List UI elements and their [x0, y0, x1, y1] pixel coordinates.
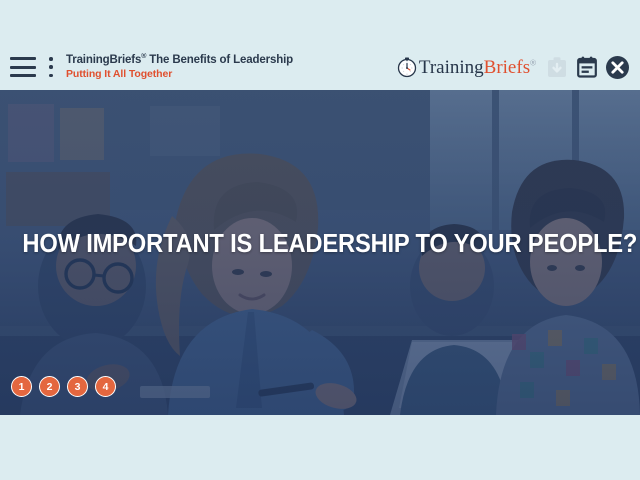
course-title-rest: The Benefits of Leadership: [146, 54, 293, 66]
notes-button[interactable]: [572, 52, 602, 82]
title-block: TrainingBriefs® The Benefits of Leadersh…: [66, 53, 396, 80]
hamburger-line: [10, 74, 36, 77]
hamburger-line: [10, 66, 36, 69]
brand-word-training: Training: [419, 57, 484, 78]
download-icon: [547, 56, 567, 78]
close-icon: [605, 55, 630, 80]
header-bar: TrainingBriefs® The Benefits of Leadersh…: [0, 44, 640, 90]
hamburger-line: [10, 57, 36, 60]
elearning-player-window: TrainingBriefs® The Benefits of Leadersh…: [0, 0, 640, 480]
kebab-dot: [49, 65, 53, 69]
kebab-dot: [49, 74, 53, 78]
trainingbriefs-logo[interactable]: TrainingBriefs®: [396, 56, 536, 78]
hamburger-menu-icon[interactable]: [10, 57, 36, 77]
nav-dot-4[interactable]: 4: [95, 376, 116, 397]
header-actions: [542, 52, 640, 82]
nav-dot-3[interactable]: 3: [67, 376, 88, 397]
download-button[interactable]: [542, 52, 572, 82]
notes-icon: [577, 56, 597, 78]
close-button[interactable]: [602, 52, 632, 82]
course-title-brand: TrainingBriefs: [66, 54, 141, 66]
stopwatch-icon: [396, 56, 418, 78]
course-title: TrainingBriefs® The Benefits of Leadersh…: [66, 53, 396, 67]
video-player-stage[interactable]: HOW IMPORTANT IS LEADERSHIP TO YOUR PEOP…: [0, 90, 640, 415]
kebab-dot: [49, 57, 53, 61]
video-headline: HOW IMPORTANT IS LEADERSHIP TO YOUR PEOP…: [22, 230, 617, 259]
chapter-navigation: 1 2 3 4: [11, 376, 116, 397]
lesson-subtitle: Putting It All Together: [66, 68, 396, 80]
more-options-icon[interactable]: [44, 57, 58, 77]
brand-registered-mark: ®: [530, 58, 536, 67]
brand-word-briefs: Briefs: [484, 57, 530, 78]
nav-dot-2[interactable]: 2: [39, 376, 60, 397]
brand-wordmark: TrainingBriefs®: [419, 58, 536, 77]
nav-dot-1[interactable]: 1: [11, 376, 32, 397]
